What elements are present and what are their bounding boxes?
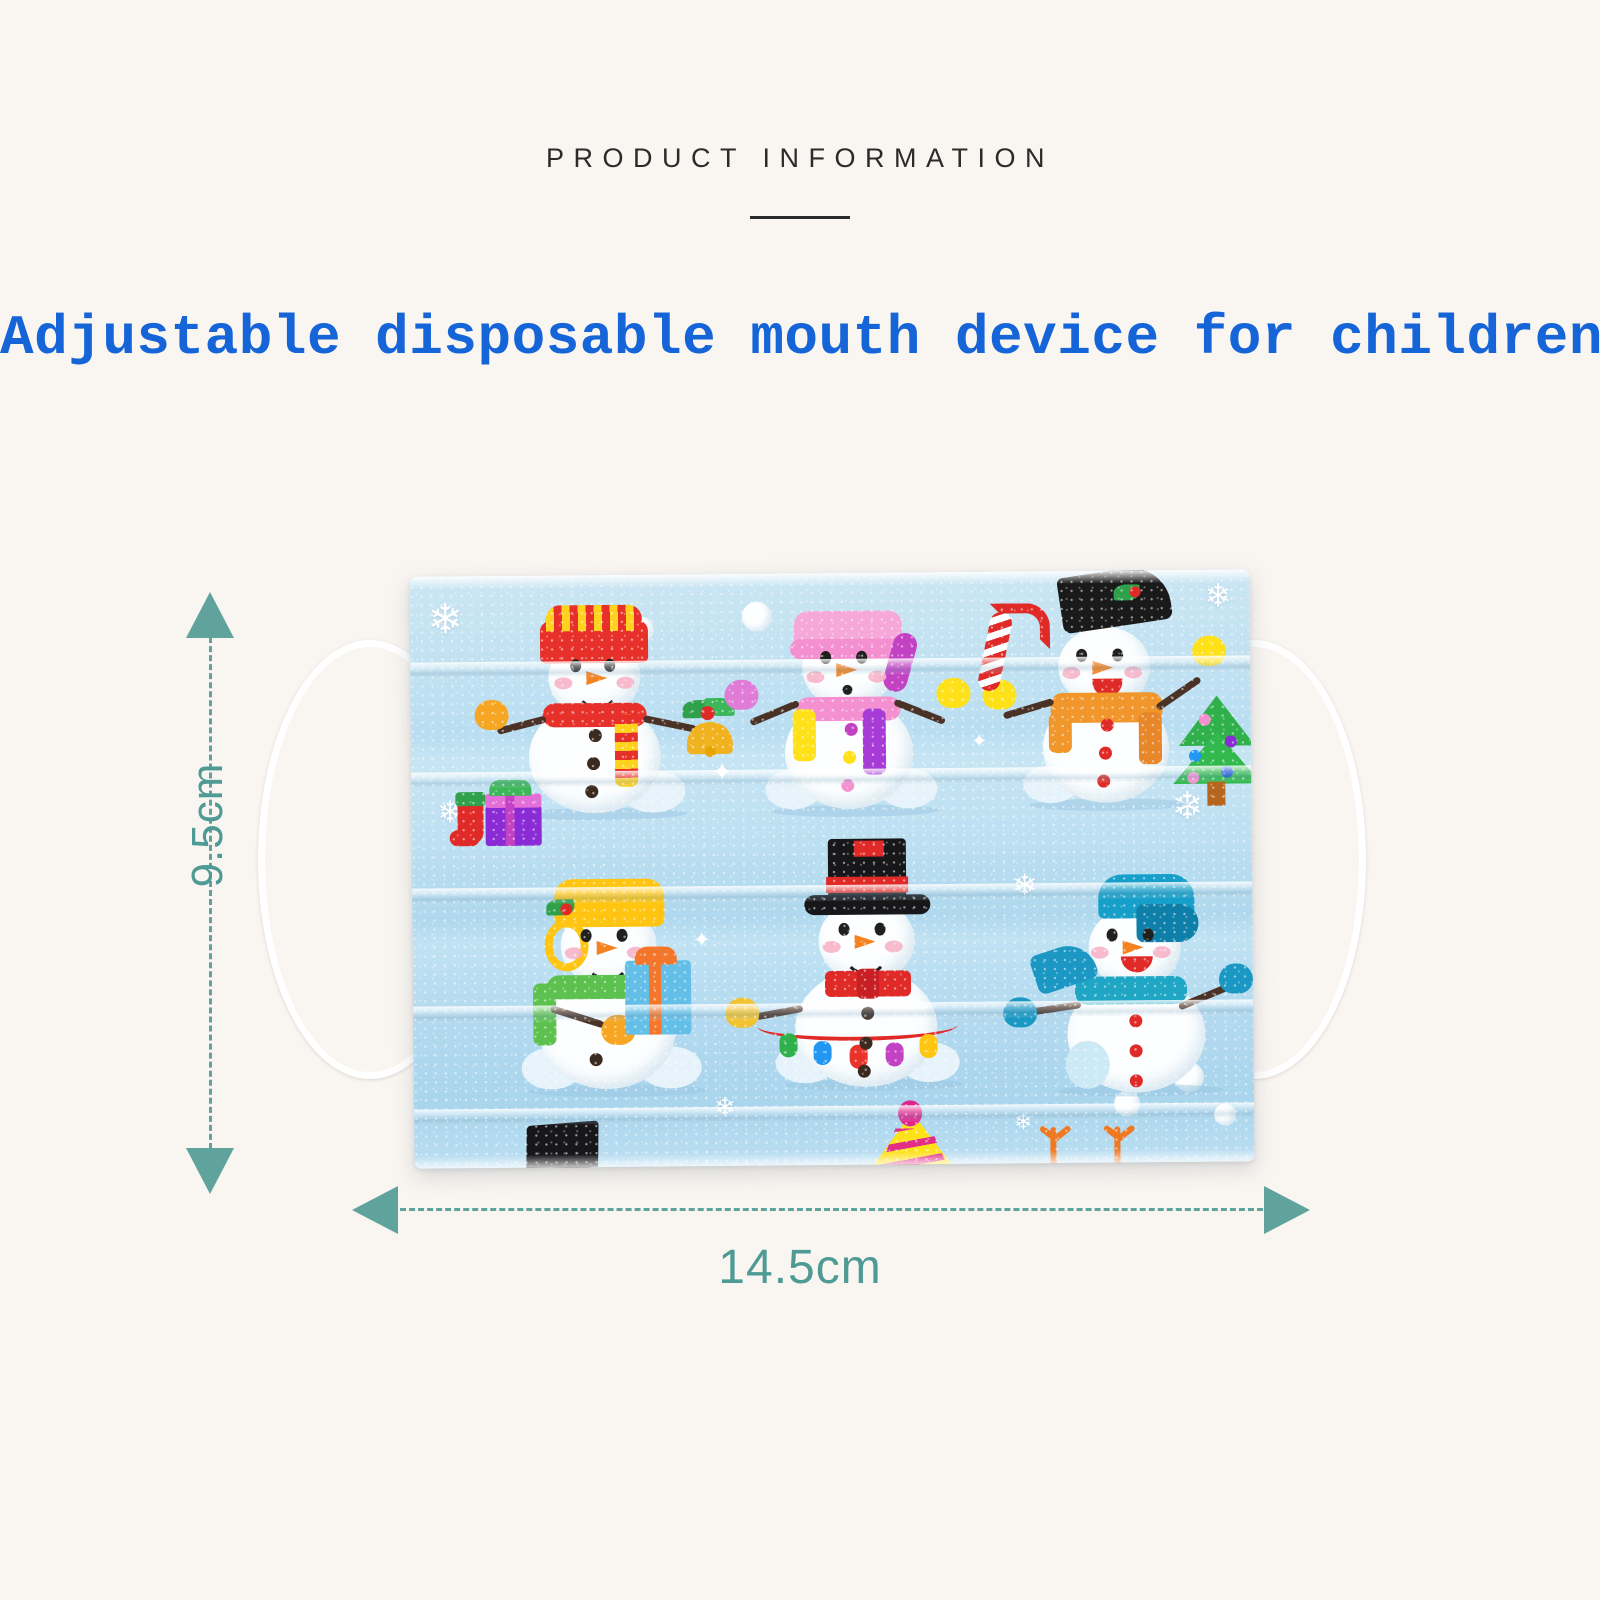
stocking-toe <box>450 830 480 846</box>
light-bulb <box>779 1033 797 1057</box>
snowman-cheek <box>565 947 583 959</box>
snowman-button <box>1101 719 1114 732</box>
snowman-button <box>1097 775 1110 788</box>
snowman-scarf <box>1075 976 1187 1005</box>
dimension-arrow-down <box>186 1148 234 1194</box>
snowman-mitten <box>936 678 970 708</box>
snowflake-icon: ❄ <box>428 598 464 640</box>
snowman-hat-band <box>826 876 908 893</box>
snowman-button <box>1130 1044 1143 1057</box>
snowman-mitten <box>1192 636 1226 666</box>
snowman-mitten <box>725 998 759 1028</box>
snowman-eye <box>1076 649 1087 662</box>
light-bulb <box>814 1041 832 1065</box>
snowman-scarf-tail <box>533 983 557 1045</box>
gift-ribbon <box>649 960 662 1034</box>
snowman-nose <box>855 935 876 949</box>
snowman-figure-bottom-left <box>502 862 754 1114</box>
snowman-hat-earflap <box>544 919 588 971</box>
bell-clapper <box>705 746 716 757</box>
tree-ornament <box>1189 750 1201 762</box>
tree-ornament <box>1221 765 1233 777</box>
snowman-button <box>1099 747 1112 760</box>
snowman-nose <box>597 941 618 955</box>
dimension-label-width: 14.5cm <box>0 1240 1600 1295</box>
snowman-button <box>859 1037 872 1050</box>
snowman-cheek <box>868 671 886 683</box>
snowman-eye <box>856 651 867 664</box>
snowman-eye <box>617 929 628 942</box>
snowman-hat-buckle <box>854 841 884 857</box>
dimension-label-height: 9.5cm <box>183 725 233 925</box>
snowman-eye <box>874 923 885 936</box>
snowman-button <box>587 757 600 770</box>
snowman-nose <box>1092 661 1113 675</box>
light-bulb <box>886 1042 904 1066</box>
snowman-eye <box>1112 648 1123 661</box>
snowman-button <box>1130 1074 1143 1087</box>
snowman-button <box>845 723 858 736</box>
snowflake-icon: ❄ <box>1014 1111 1033 1133</box>
page-title: Adjustable disposable mouth device for c… <box>0 306 1600 370</box>
tree-ornament <box>1225 735 1237 747</box>
holly-berry <box>701 706 715 720</box>
snowman-eye <box>570 659 581 672</box>
snowman-cheek <box>823 941 841 953</box>
section-eyebrow: PRODUCT INFORMATION <box>0 143 1600 174</box>
cropped-party-hat-pom <box>898 1100 922 1126</box>
dimension-line-horizontal <box>382 1208 1272 1211</box>
snowman-mitten <box>475 700 509 730</box>
snowman-button <box>861 1007 874 1020</box>
snowman-nose <box>1123 940 1144 954</box>
snowman-button <box>843 751 856 764</box>
snowman-cheek <box>1153 946 1171 958</box>
product-information-page: PRODUCT INFORMATION Adjustable disposabl… <box>0 0 1600 1600</box>
snowman-nose <box>836 663 857 677</box>
candy-cane-hook <box>990 603 1050 650</box>
snowman-bowtie-knot <box>857 969 879 999</box>
snowman-mitten <box>1003 997 1037 1027</box>
snowman-mouth <box>842 685 852 695</box>
snowman-figure-bottom-right <box>1008 859 1255 1111</box>
snowman-scarf-tail <box>863 709 887 775</box>
gift-bow <box>635 946 677 964</box>
snowman-scarf-tail <box>615 715 639 787</box>
snowman-mitten <box>724 680 758 710</box>
snowman-button <box>858 1065 871 1078</box>
snowman-button <box>585 785 598 798</box>
snowman-cheek <box>1124 666 1142 678</box>
snowman-eye <box>820 651 831 664</box>
snowman-button <box>841 779 854 792</box>
tree-trunk <box>1207 782 1225 806</box>
snowman-button <box>590 1053 603 1066</box>
snowman-hat-stripes <box>546 605 642 632</box>
dimension-arrow-right <box>1264 1186 1310 1234</box>
snowman-eye <box>581 929 592 942</box>
holly-berry <box>1130 586 1141 597</box>
eyebrow-divider <box>750 216 850 219</box>
snowman-eye <box>1107 929 1118 942</box>
gift-bow <box>489 780 531 796</box>
light-bulb <box>919 1034 937 1058</box>
snowman-figure-top-center <box>740 596 992 848</box>
cropped-top-hat <box>526 1120 598 1168</box>
snowman-button <box>589 729 602 742</box>
snowman-cheek <box>806 671 824 683</box>
stocking-cuff <box>455 792 485 806</box>
snowman-button <box>1129 1014 1142 1027</box>
snowman-eye <box>838 923 849 936</box>
gift-ribbon <box>505 794 514 846</box>
holly-berry <box>560 903 572 915</box>
snowman-scarf-tail <box>1049 713 1072 753</box>
snowman-hat <box>1056 569 1173 634</box>
snowman-eye <box>1143 928 1154 941</box>
snowman-cheek <box>554 677 572 689</box>
tree-ornament <box>1187 772 1199 784</box>
gift-group <box>455 771 576 852</box>
mask-body: ❄ ❄ ❄ ❄ ❄ ❄ ❄ ❄ ✦ ✦ ✦ ✦ ✦ ✦ <box>409 569 1254 1168</box>
tree-ornament <box>1199 714 1211 726</box>
snowman-mitten <box>1219 963 1253 993</box>
snowman-cheek <box>1091 947 1109 959</box>
snowman-scarf-tail <box>793 709 816 761</box>
snowman-figure-bottom-center <box>742 849 1014 1111</box>
snowman-figure-top-right <box>988 585 1250 847</box>
snowman-scarf-tail <box>1139 712 1162 764</box>
snowbank <box>1066 1041 1110 1089</box>
product-image: ❄ ❄ ❄ ❄ ❄ ❄ ❄ ❄ ✦ ✦ ✦ ✦ ✦ ✦ <box>250 545 1360 1185</box>
christmas-tree-icon <box>1173 731 1255 784</box>
snowman-cheek <box>1062 667 1080 679</box>
